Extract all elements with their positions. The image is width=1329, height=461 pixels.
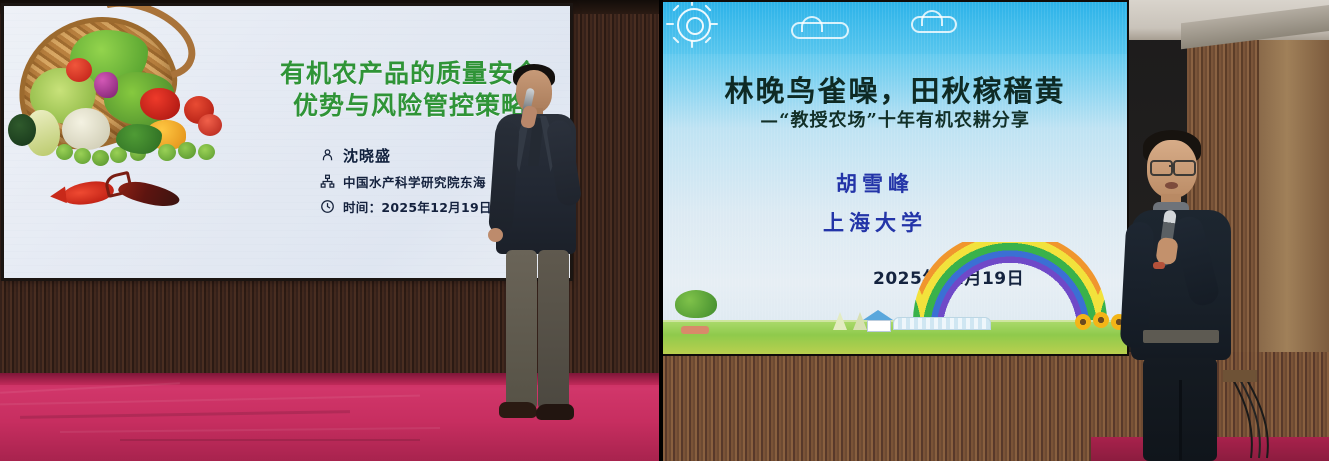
speaker-left-leg-right — [538, 250, 569, 410]
speaker-right — [1123, 130, 1241, 461]
vegetable-basket-artwork — [8, 14, 238, 214]
sun-icon — [677, 8, 711, 42]
photo-seam — [659, 0, 663, 461]
left-slide-date-row: 时间：2025年12月19日 — [320, 197, 492, 216]
screenshot-root: 有机农产品的质量安全 优势与风险管控策略 沈晓盛 — [0, 0, 1329, 461]
left-slide-speaker-row: 沈晓盛 — [320, 145, 492, 166]
crayfish-illustration — [117, 178, 182, 210]
sitemap-icon — [320, 174, 335, 189]
speaker-left — [486, 62, 586, 461]
glasses-icon — [1173, 160, 1196, 176]
speaker-right-leg-split — [1179, 380, 1182, 460]
glasses-icon — [1150, 160, 1173, 176]
left-slide-meta: 沈晓盛 中国水产科学研究院东海 时间：202 — [320, 145, 492, 222]
clock-icon — [320, 199, 335, 214]
tree-illustration — [673, 290, 719, 330]
cloud-icon — [911, 16, 957, 33]
glasses-bridge — [1169, 165, 1174, 167]
projection-screen-right: 林晚鸟雀噪，田秋稼穑黄 —“教授农场”十年有机农耕分享 胡雪峰 上海大学 202… — [663, 2, 1127, 354]
speaker-left-shoe-right — [536, 404, 574, 420]
sunflower-icon — [1075, 314, 1091, 330]
sunflower-icon — [1093, 312, 1109, 328]
speaker-right-belt — [1143, 330, 1219, 343]
greenhouse-illustration — [893, 317, 991, 330]
right-presentation-photo: 林晚鸟雀噪，田秋稼穑黄 —“教授农场”十年有机农耕分享 胡雪峰 上海大学 202… — [661, 0, 1329, 461]
left-speaker-org: 中国水产科学研究院东海 — [343, 172, 486, 191]
speaker-right-mouth — [1165, 182, 1178, 189]
speaker-right-wristband — [1153, 262, 1165, 269]
right-slide-subtitle: —“教授农场”十年有机农耕分享 — [675, 106, 1115, 132]
left-slide-org-row: 中国水产科学研究院东海 — [320, 172, 492, 191]
left-presentation-photo: 有机农产品的质量安全 优势与风险管控策略 沈晓盛 — [0, 0, 661, 461]
person-icon — [320, 148, 335, 163]
speaker-left-leg-left — [506, 250, 537, 410]
right-speaker-name: 胡雪峰 — [675, 168, 1075, 198]
cloud-icon — [791, 22, 849, 39]
haystack-illustration — [833, 312, 847, 330]
right-slide-title: 林晚鸟雀噪，田秋稼穑黄 — [675, 68, 1115, 110]
left-slide-date: 时间：2025年12月19日 — [343, 197, 492, 216]
speaker-left-hand-lower — [488, 228, 503, 242]
left-speaker-name: 沈晓盛 — [343, 145, 391, 166]
house-illustration — [863, 310, 893, 330]
speaker-left-shoe-left — [499, 402, 537, 418]
